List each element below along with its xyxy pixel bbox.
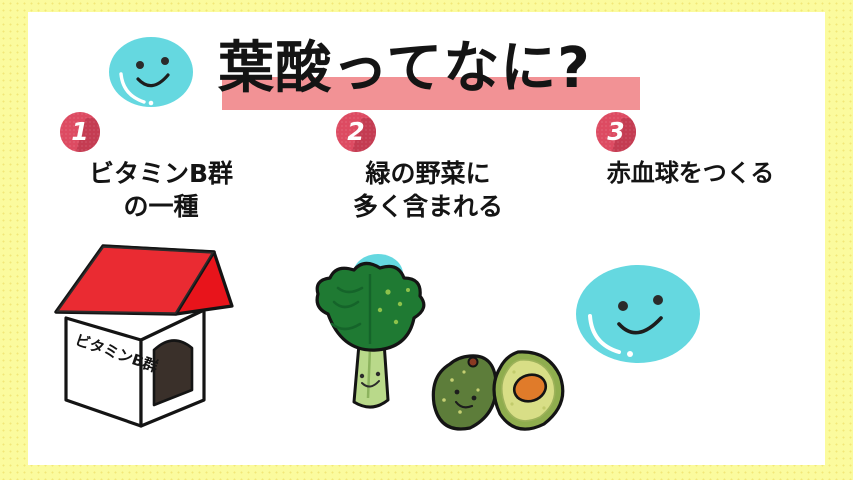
smiley-blob-icon — [108, 34, 194, 110]
point-badge-number: 2 — [336, 112, 376, 152]
point-label-line: の一種 — [30, 191, 292, 224]
point-label-line: 赤血球をつくる — [558, 158, 823, 189]
point-badge-number: 3 — [596, 112, 636, 152]
slide-canvas: 葉酸ってなに? 1 ビタミンB群 の一種 2 緑の野菜に 多く含まれる — [28, 12, 825, 465]
point-item-2: 2 緑の野菜に 多く含まれる — [308, 112, 548, 223]
slide-root: 葉酸ってなに? 1 ビタミンB群 の一種 2 緑の野菜に 多く含まれる — [0, 0, 853, 480]
point-item-1: 1 ビタミンB群 の一種 — [30, 112, 292, 223]
point-label-line: ビタミンB群 — [30, 158, 292, 191]
point-label-3: 赤血球をつくる — [558, 158, 823, 189]
avocado-illustration — [426, 342, 576, 437]
doghouse-illustration: ビタミンB群 — [46, 240, 251, 430]
point-label-1: ビタミンB群 の一種 — [30, 158, 292, 223]
point-label-2: 緑の野菜に 多く含まれる — [308, 158, 548, 223]
point-badge-1: 1 — [60, 112, 100, 152]
point-badge-3: 3 — [596, 112, 636, 152]
smiley-blob-icon — [353, 254, 403, 294]
title-row: 葉酸ってなに? — [108, 26, 808, 118]
page-title-wrap: 葉酸ってなに? — [218, 26, 591, 118]
point-label-line: 緑の野菜に — [308, 158, 548, 191]
point-label-line: 多く含まれる — [308, 191, 548, 224]
smiley-blob-illustration — [573, 262, 703, 367]
point-item-3: 3 赤血球をつくる — [558, 112, 823, 189]
point-badge-number: 1 — [60, 112, 100, 152]
point-badge-2: 2 — [336, 112, 376, 152]
broccoli-illustration — [304, 252, 444, 417]
house-side-text: ビタミンB群 — [73, 331, 161, 376]
page-title: 葉酸ってなに? — [218, 26, 591, 112]
